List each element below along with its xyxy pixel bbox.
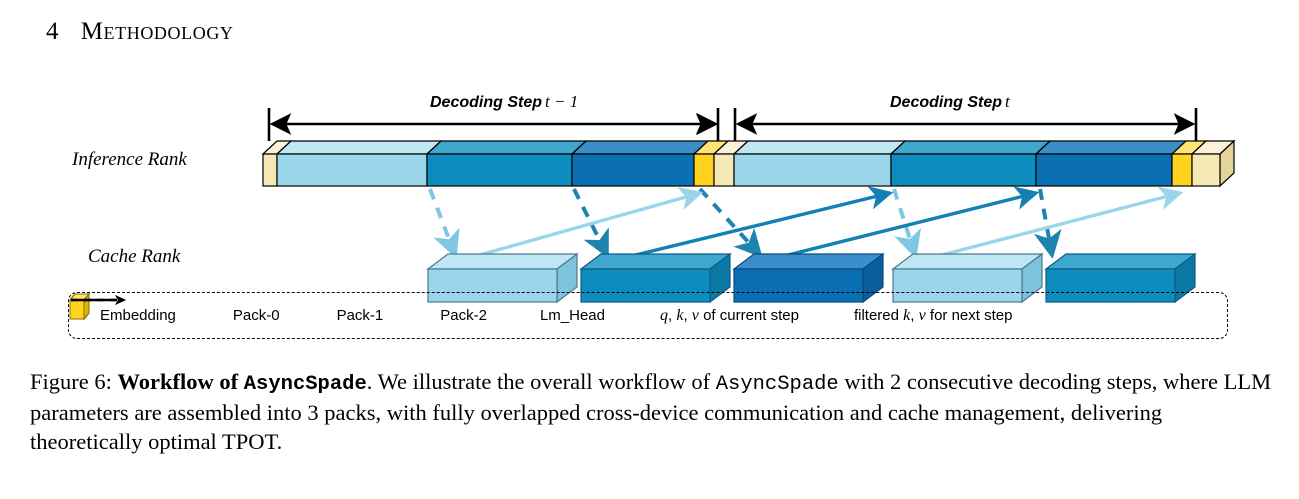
legend-item-pack-0: Pack-0 bbox=[224, 307, 280, 324]
inference-rank-bar bbox=[263, 141, 1234, 186]
legend-label: Embedding bbox=[91, 307, 176, 324]
dashed-arrow-qkv bbox=[430, 189, 455, 255]
legend-item-lm-head: Lm_Head bbox=[531, 307, 605, 324]
inference-block-embedding bbox=[1192, 154, 1220, 186]
solid-arrow-icon bbox=[69, 293, 127, 307]
legend-item-solid-arrow: filtered k, v for next step bbox=[845, 307, 1012, 325]
cache-block-pack-1-top bbox=[1046, 254, 1195, 269]
legend-label: q, k, v of current step bbox=[651, 307, 799, 325]
dashed-arrow-qkv bbox=[700, 189, 760, 255]
cache-block-pack-2-top bbox=[734, 254, 883, 269]
section-heading: 4Methodology bbox=[46, 18, 234, 46]
legend-label: filtered k, v for next step bbox=[845, 307, 1012, 325]
legend-label: Pack-0 bbox=[224, 307, 280, 324]
legend-item-embedding: Embedding bbox=[91, 307, 176, 324]
inference-block-pack-0 bbox=[734, 154, 891, 186]
dimension-line-step-t bbox=[700, 108, 1196, 141]
math-q: q bbox=[660, 307, 668, 324]
math-v: v bbox=[919, 307, 926, 324]
caption-mono-inline: AsyncSpade bbox=[716, 373, 839, 396]
solid-arrow-filtered-kv bbox=[915, 193, 1180, 262]
legend-label: Pack-2 bbox=[431, 307, 487, 324]
legend-label: Lm_Head bbox=[531, 307, 605, 324]
inference-block-pack-1-top bbox=[891, 141, 1050, 154]
inference-block-pack-2 bbox=[572, 154, 694, 186]
dashed-arrow-qkv bbox=[1040, 189, 1052, 255]
sep: , bbox=[683, 307, 691, 324]
sep: , bbox=[910, 307, 918, 324]
legend-item-pack-1: Pack-1 bbox=[328, 307, 384, 324]
legend-label: Pack-1 bbox=[328, 307, 384, 324]
figure-legend: Embedding Pack-0 Pack-1 Pa bbox=[68, 292, 1228, 339]
legend-item-dashed-arrow: q, k, v of current step bbox=[651, 307, 799, 325]
solid-arrow-filtered-kv bbox=[760, 193, 1036, 262]
math-v: v bbox=[692, 307, 699, 324]
legend-prefix: filtered bbox=[854, 307, 903, 324]
legend-item-pack-2: Pack-2 bbox=[431, 307, 487, 324]
inference-block-lm-head bbox=[1172, 154, 1192, 186]
cache-block-pack-0-top bbox=[428, 254, 577, 269]
inference-block-lm-head bbox=[694, 154, 714, 186]
dimension-line-step-t-minus-1 bbox=[269, 108, 718, 141]
caption-figure-label: Figure 6: bbox=[30, 369, 112, 394]
inference-block-pack-2-top bbox=[1036, 141, 1186, 154]
inference-block-pack-1 bbox=[427, 154, 572, 186]
section-title: Methodology bbox=[81, 18, 234, 45]
figure-workflow: Inference Rank Cache Rank Decoding Stept… bbox=[0, 86, 1299, 361]
inference-block-embedding bbox=[714, 154, 734, 186]
inference-block-pack-0 bbox=[277, 154, 427, 186]
caption-bold-mono: AsyncSpade bbox=[244, 373, 367, 396]
legend-suffix: of current step bbox=[699, 307, 799, 324]
section-number: 4 bbox=[46, 18, 59, 45]
caption-bold-lead: Workflow of bbox=[118, 369, 239, 394]
inference-block-pack-0-top bbox=[734, 141, 905, 154]
inference-block-pack-1-top bbox=[427, 141, 586, 154]
inference-block-pack-2-top bbox=[572, 141, 708, 154]
inference-block-pack-1 bbox=[891, 154, 1036, 186]
caption-rest-1: . We illustrate the overall workflow of bbox=[367, 369, 710, 394]
connection-arrows bbox=[430, 189, 1180, 262]
legend-suffix: for next step bbox=[926, 307, 1013, 324]
inference-block-pack-0-top bbox=[277, 141, 441, 154]
cache-block-pack-0-top bbox=[893, 254, 1042, 269]
solid-arrow-filtered-kv bbox=[607, 193, 890, 262]
cache-block-pack-1-top bbox=[581, 254, 730, 269]
solid-arrow-filtered-kv bbox=[455, 193, 700, 262]
figure-caption: Figure 6: Workflow of AsyncSpade. We ill… bbox=[30, 367, 1275, 456]
dashed-arrow-qkv bbox=[894, 189, 915, 255]
inference-block-pack-2 bbox=[1036, 154, 1172, 186]
inference-block-embedding bbox=[263, 154, 277, 186]
